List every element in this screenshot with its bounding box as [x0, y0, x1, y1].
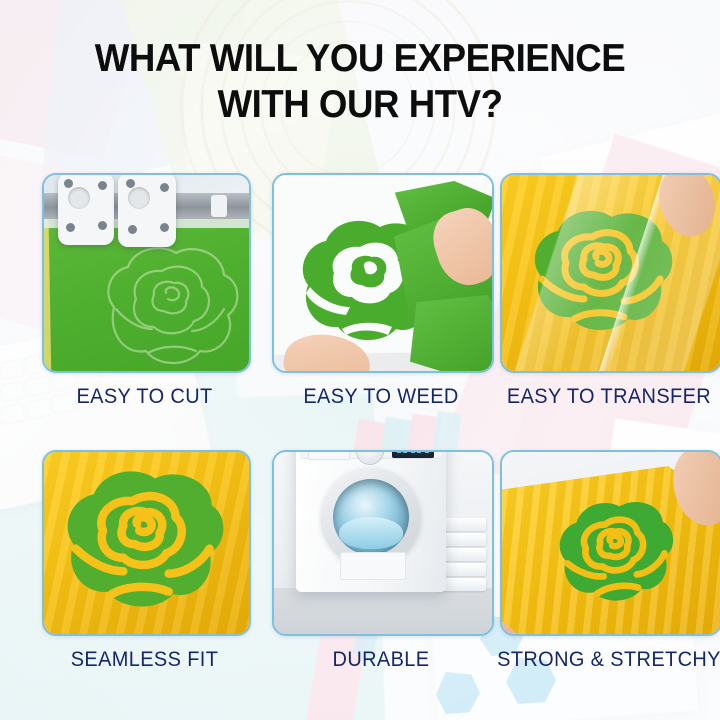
feature-card-easy-to-transfer[interactable]: EASY TO TRANSFER: [500, 173, 718, 369]
feature-card-strong-stretchy[interactable]: STRONG & STRETCHY: [500, 450, 718, 632]
feature-caption-seamless-fit: SEAMLESS FIT: [34, 648, 255, 672]
feature-photo-durable: [272, 450, 494, 636]
feature-card-easy-to-weed[interactable]: EASY TO WEED: [272, 173, 490, 369]
feature-card-seamless-fit[interactable]: SEAMLESS FIT: [42, 450, 247, 632]
feature-caption-easy-to-weed: EASY TO WEED: [264, 385, 498, 409]
feature-photo-easy-to-cut: [42, 173, 251, 373]
feature-photo-seamless-fit: [42, 450, 251, 636]
feature-photo-strong-stretchy: [500, 450, 720, 636]
feature-card-durable[interactable]: DURABLE: [272, 450, 490, 632]
feature-caption-easy-to-transfer: EASY TO TRANSFER: [492, 385, 720, 409]
feature-photo-easy-to-weed: [272, 173, 494, 373]
feature-grid: EASY TO CUT: [0, 0, 720, 720]
feature-caption-durable: DURABLE: [264, 648, 498, 672]
feature-card-easy-to-cut[interactable]: EASY TO CUT: [42, 173, 247, 369]
washing-machine: [296, 452, 446, 592]
rose-vinyl-shape-icon: [542, 485, 694, 623]
feature-photo-easy-to-transfer: [500, 173, 720, 373]
rose-cut-outline-icon: [96, 237, 246, 371]
feature-caption-easy-to-cut: EASY TO CUT: [34, 385, 255, 409]
feature-caption-strong-stretchy: STRONG & STRETCHY: [492, 648, 720, 672]
rose-vinyl-shape-icon: [52, 458, 240, 628]
infographic-page: silhouette A M WHAT WILL YOU EXPERIENCE …: [0, 0, 720, 720]
